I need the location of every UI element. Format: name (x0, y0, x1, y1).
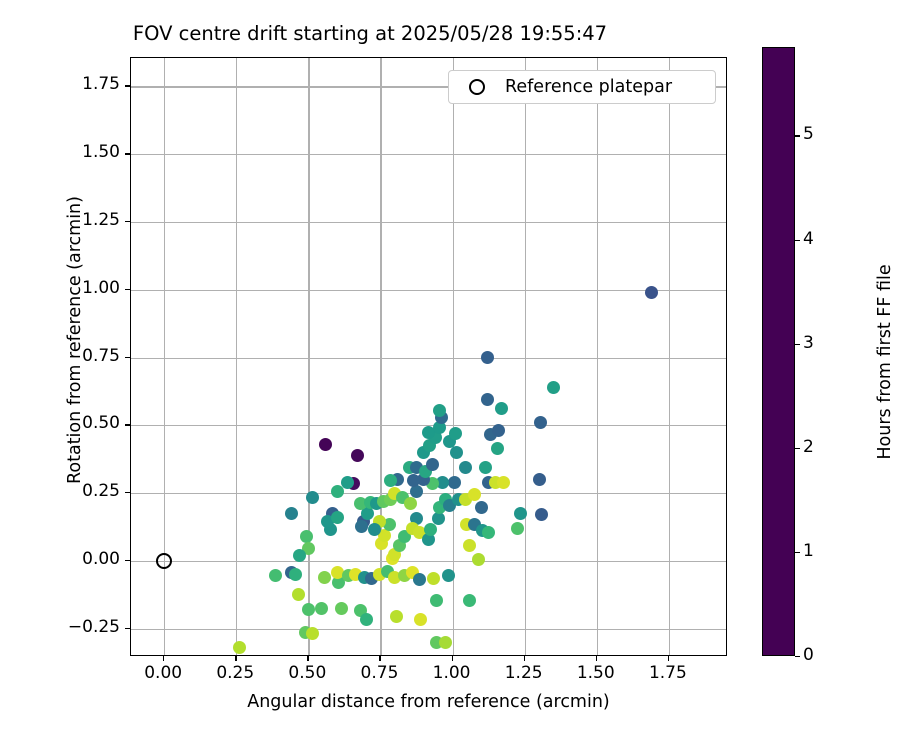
y-tick-4 (125, 357, 130, 358)
scatter-point (306, 627, 319, 640)
x-tick-label-2: 0.50 (267, 663, 347, 683)
x-tick-label-1: 0.25 (195, 663, 275, 683)
scatter-point (302, 603, 315, 616)
scatter-point (414, 613, 427, 626)
scatter-point (534, 416, 547, 429)
scatter-point (292, 588, 305, 601)
scatter-point (495, 402, 508, 415)
scatter-point (439, 636, 452, 649)
x-tick-label-7: 1.75 (628, 663, 708, 683)
scatter-point (390, 610, 403, 623)
scatter-point (475, 501, 488, 514)
scatter-point (442, 569, 455, 582)
colorbar-tick-4 (795, 240, 800, 241)
y-tick-0 (125, 628, 130, 629)
gridline-horizontal-6 (131, 222, 726, 223)
gridline-vertical-4 (453, 58, 454, 655)
figure-canvas: FOV centre drift starting at 2025/05/28 … (0, 0, 900, 750)
scatter-point (427, 572, 440, 585)
scatter-point (355, 520, 368, 533)
gridline-vertical-3 (380, 58, 381, 655)
colorbar (762, 47, 795, 656)
reference-platepar-marker (156, 553, 172, 569)
scatter-point (535, 508, 548, 521)
scatter-point (547, 381, 560, 394)
x-tick-label-5: 1.25 (484, 663, 564, 683)
x-tick-label-3: 0.75 (339, 663, 419, 683)
y-tick-6 (125, 221, 130, 222)
scatter-point (432, 512, 445, 525)
y-axis-label: Rotation from reference (arcmin) (65, 40, 85, 640)
colorbar-tick-3 (795, 344, 800, 345)
y-tick-2 (125, 492, 130, 493)
colorbar-label: Hours from first FF file (875, 62, 895, 662)
scatter-point (351, 449, 364, 462)
scatter-point (450, 446, 463, 459)
scatter-point (482, 526, 495, 539)
scatter-point (426, 458, 439, 471)
scatter-point (269, 569, 282, 582)
scatter-point (645, 286, 658, 299)
x-tick-1 (235, 656, 236, 661)
scatter-point (492, 424, 505, 437)
x-axis-label: Angular distance from reference (arcmin) (130, 692, 727, 712)
gridline-horizontal-7 (131, 154, 726, 155)
scatter-point (285, 507, 298, 520)
scatter-point (472, 553, 485, 566)
page-title: FOV centre drift starting at 2025/05/28 … (0, 22, 740, 45)
colorbar-tick-label-4: 4 (803, 229, 814, 249)
colorbar-tick-label-5: 5 (803, 124, 814, 144)
scatter-point (481, 393, 494, 406)
scatter-point (463, 594, 476, 607)
scatter-point (331, 511, 344, 524)
scatter-plot-axes (130, 57, 727, 656)
y-tick-8 (125, 85, 130, 86)
scatter-point (491, 442, 504, 455)
scatter-point (463, 539, 476, 552)
gridline-vertical-7 (669, 58, 670, 655)
x-tick-label-4: 1.00 (412, 663, 492, 683)
gridline-vertical-2 (308, 58, 309, 655)
colorbar-tick-label-2: 2 (803, 437, 814, 457)
y-tick-3 (125, 424, 130, 425)
colorbar-tick-5 (795, 135, 800, 136)
colorbar-tick-label-3: 3 (803, 333, 814, 353)
scatter-point (481, 351, 494, 364)
scatter-point (306, 491, 319, 504)
gridline-horizontal-1 (131, 561, 726, 562)
scatter-point (404, 497, 417, 510)
scatter-point (360, 613, 373, 626)
colorbar-tick-2 (795, 448, 800, 449)
scatter-point (511, 522, 524, 535)
scatter-point (430, 594, 443, 607)
scatter-point (331, 485, 344, 498)
x-tick-3 (379, 656, 380, 661)
colorbar-tick-0 (795, 656, 800, 657)
scatter-point (315, 602, 328, 615)
scatter-point (514, 507, 527, 520)
scatter-point (289, 568, 302, 581)
scatter-point (449, 427, 462, 440)
gridline-vertical-1 (236, 58, 237, 655)
legend[interactable]: Reference platepar (448, 70, 716, 104)
gridline-horizontal-2 (131, 493, 726, 494)
y-tick-1 (125, 560, 130, 561)
legend-item-label: Reference platepar (505, 77, 672, 97)
scatter-point (433, 404, 446, 417)
colorbar-tick-1 (795, 552, 800, 553)
open-circle-icon (469, 79, 485, 95)
x-tick-label-6: 1.50 (556, 663, 636, 683)
gridline-vertical-6 (597, 58, 598, 655)
scatter-point (318, 571, 331, 584)
gridline-vertical-5 (525, 58, 526, 655)
scatter-point (319, 438, 332, 451)
scatter-point (533, 473, 546, 486)
scatter-point (413, 573, 426, 586)
scatter-point (424, 523, 437, 536)
x-tick-7 (668, 656, 669, 661)
scatter-point (410, 485, 423, 498)
scatter-point (497, 476, 510, 489)
x-tick-4 (452, 656, 453, 661)
colorbar-tick-label-0: 0 (803, 645, 814, 665)
y-tick-5 (125, 289, 130, 290)
scatter-point (233, 641, 246, 654)
scatter-point (448, 476, 461, 489)
x-tick-2 (307, 656, 308, 661)
gridline-horizontal-5 (131, 290, 726, 291)
x-tick-label-0: 0.00 (123, 663, 203, 683)
scatter-point (335, 602, 348, 615)
x-tick-0 (163, 656, 164, 661)
scatter-point (300, 530, 313, 543)
gridline-horizontal-4 (131, 358, 726, 359)
colorbar-tick-label-1: 1 (803, 541, 814, 561)
y-tick-7 (125, 153, 130, 154)
scatter-point (459, 461, 472, 474)
scatter-point (293, 549, 306, 562)
x-tick-5 (524, 656, 525, 661)
scatter-point (479, 461, 492, 474)
x-tick-6 (596, 656, 597, 661)
legend-marker-wrap (449, 79, 505, 95)
gridline-horizontal-0 (131, 629, 726, 630)
scatter-point (468, 488, 481, 501)
